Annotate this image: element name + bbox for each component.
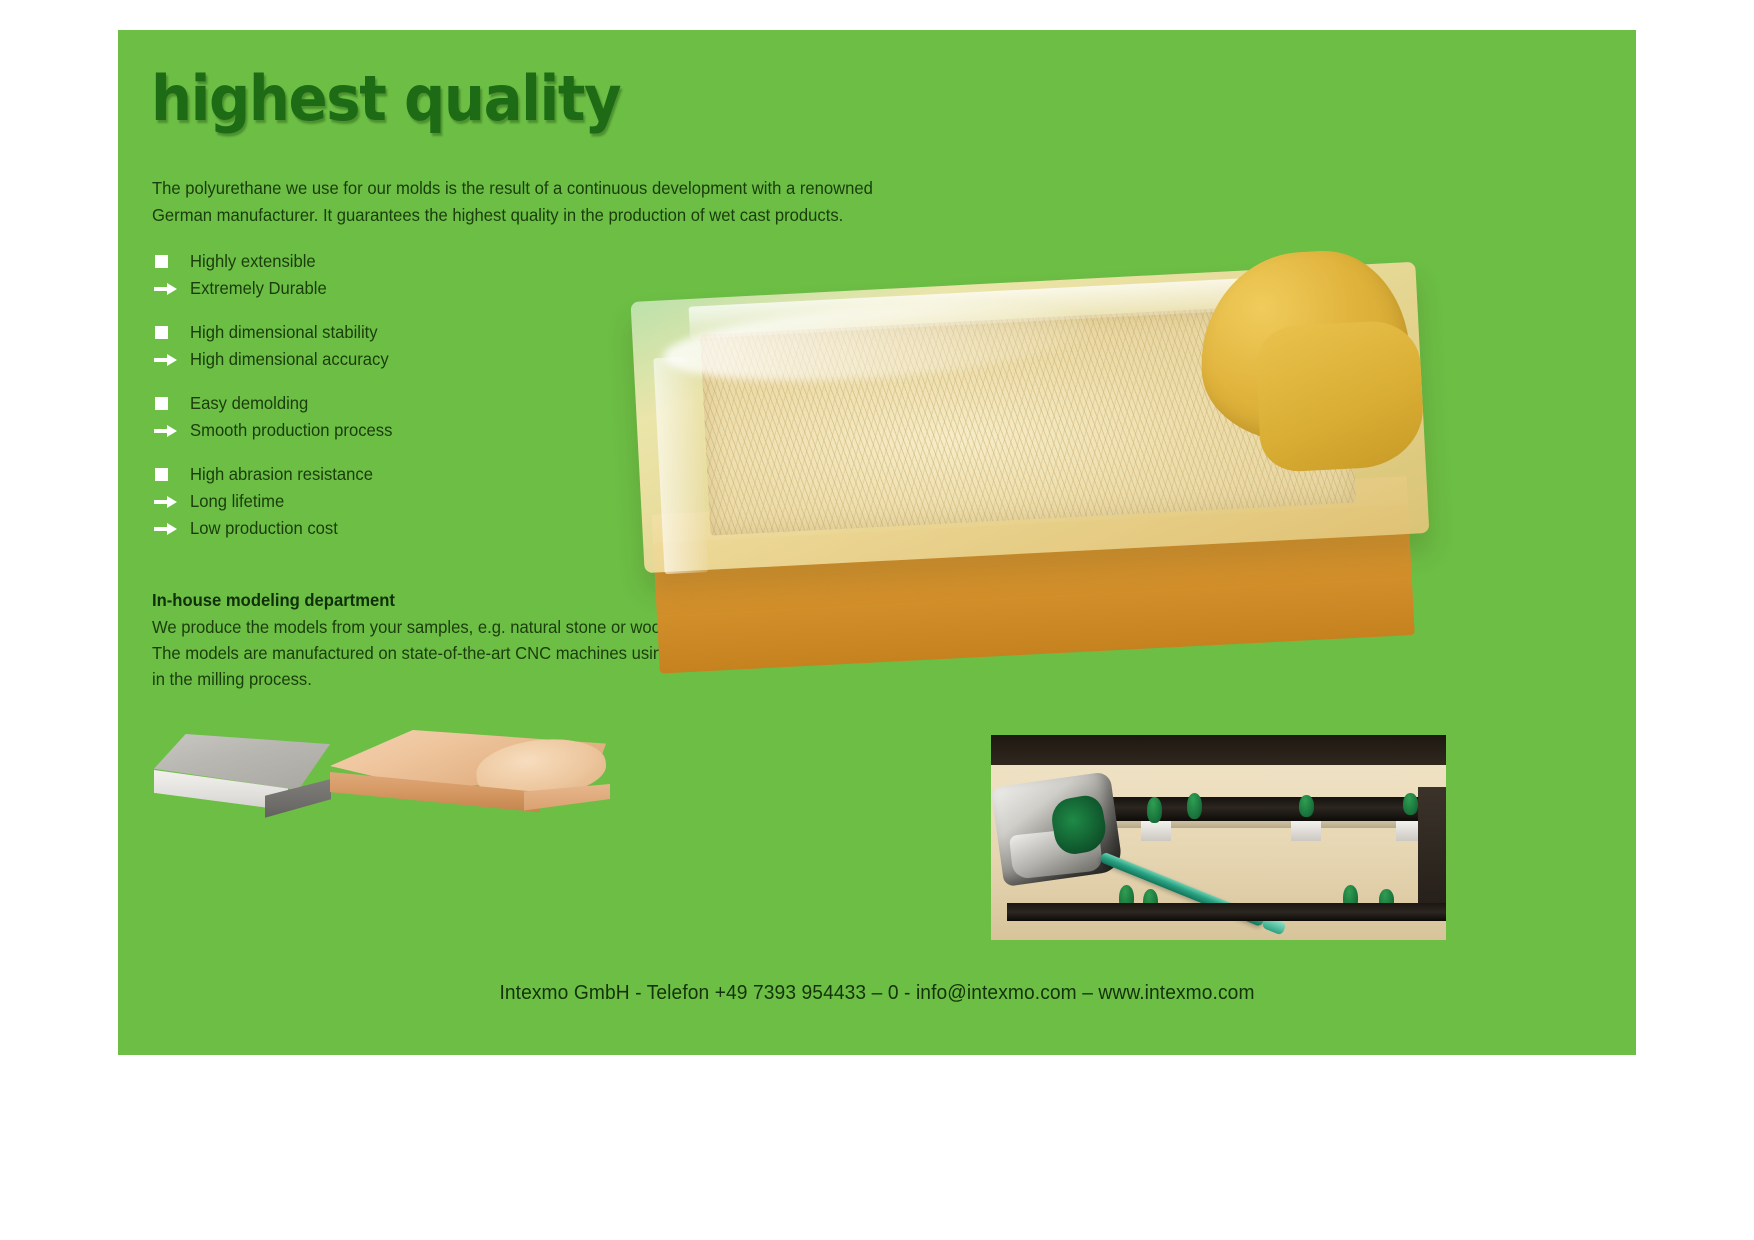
list-item-label: Highly extensible — [190, 251, 316, 272]
arrow-marker-icon — [152, 522, 190, 535]
square-marker-icon — [152, 397, 190, 410]
brochure-page: highest quality The polyurethane we use … — [0, 0, 1754, 1240]
page-title: highest quality — [151, 68, 620, 130]
arrow-marker-icon — [152, 424, 190, 437]
list-item-label: Smooth production process — [190, 420, 392, 441]
square-marker-icon — [152, 326, 190, 339]
arrow-marker-icon — [152, 353, 190, 366]
list-item-label: High abrasion resistance — [190, 464, 373, 485]
cnc-milling-machine-photo — [991, 735, 1446, 940]
intro-paragraph: The polyurethane we use for our molds is… — [152, 175, 1007, 229]
footer-contact-line: Intexmo GmbH - Telefon +49 7393 954433 –… — [148, 982, 1605, 1005]
list-item-label: Easy demolding — [190, 393, 308, 414]
arrow-marker-icon — [152, 495, 190, 508]
list-item-label: Extremely Durable — [190, 278, 327, 299]
polyurethane-mold-photo — [518, 225, 1518, 725]
arrow-marker-icon — [152, 282, 190, 295]
list-item-label: Low production cost — [190, 518, 338, 539]
grey-stone-slab-photo — [148, 730, 348, 830]
list-item-label: High dimensional accuracy — [190, 349, 389, 370]
square-marker-icon — [152, 255, 190, 268]
list-item-label: Long lifetime — [190, 491, 284, 512]
green-content-panel: highest quality The polyurethane we use … — [118, 30, 1636, 1055]
wooden-structure-slab-photo — [326, 728, 616, 833]
square-marker-icon — [152, 468, 190, 481]
intro-line-1: The polyurethane we use for our molds is… — [152, 175, 1007, 202]
list-item-label: High dimensional stability — [190, 322, 378, 343]
